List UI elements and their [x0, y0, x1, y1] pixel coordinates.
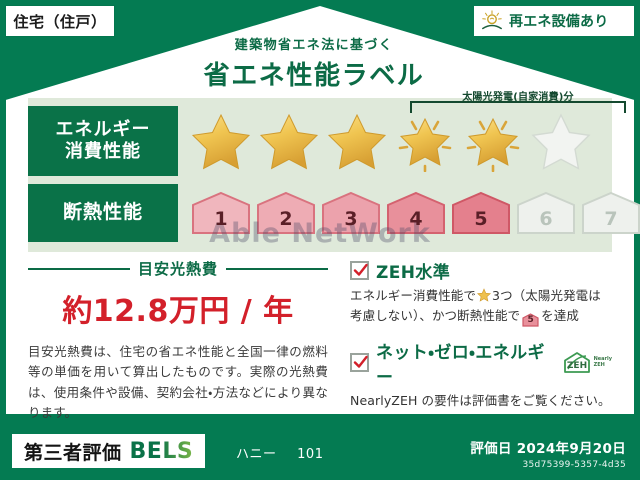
star-filled-solar-4: [392, 110, 458, 172]
star-empty-6: [528, 110, 594, 172]
category-tag: 住宅（住戸）: [6, 6, 114, 36]
zeh-desc-part1: エネルギー消費性能で: [350, 288, 476, 303]
insulation-label-text: 断熱性能: [63, 201, 143, 224]
energy-label-line1: エネルギー: [56, 119, 151, 141]
cost-heading: 目安光熱費: [28, 258, 328, 279]
star-filled-solar-5: [460, 110, 526, 172]
zeh-desc-part3: を達成: [541, 308, 579, 323]
insulation-chip-3-label: 3: [344, 208, 357, 230]
evaluation-date: 評価日 2024年9月20日: [470, 437, 626, 457]
evaluation-id: 35d75399-5357-4d35: [470, 460, 626, 470]
building-name: ハニー: [236, 447, 277, 462]
category-tag-label: 住宅（住戸）: [13, 11, 106, 32]
insulation-chip-7: 7: [580, 191, 640, 235]
insulation-chip-1: 1: [190, 191, 252, 235]
star-filled-2: [256, 110, 322, 172]
insulation-chip-5-achieved: 5: [450, 191, 512, 235]
insulation-chip-2: 2: [255, 191, 317, 235]
insulation-chip-6: 6: [515, 191, 577, 235]
zeh-standard-description: エネルギー消費性能で3つ（太陽光発電は考慮しない）、かつ断熱性能で5を達成: [350, 286, 612, 327]
evaluation-info: 評価日 2024年9月20日 35d75399-5357-4d35: [470, 437, 626, 470]
insulation-level-scale: 1 2 3 4 5: [178, 191, 640, 235]
energy-cost-column: 目安光熱費 約12.8万円 / 年 目安光熱費は、住宅の省エネ性能と全国一律の燃…: [28, 258, 328, 423]
insulation-chip-2-label: 2: [279, 208, 292, 230]
energy-performance-label: エネルギー 消費性能: [28, 106, 178, 176]
zeh-standard-header: ZEH水準: [350, 258, 612, 283]
unit-number: 101: [297, 447, 323, 462]
cost-heading-label: 目安光熱費: [138, 258, 218, 279]
energy-label-line2: 消費性能: [65, 141, 141, 163]
zeh-logo-sub2: ZEH: [594, 362, 605, 368]
energy-performance-row: エネルギー 消費性能 太陽光発電(自家消費)分: [28, 106, 594, 176]
performance-block: エネルギー 消費性能 太陽光発電(自家消費)分: [28, 98, 612, 252]
renewable-badge-label: 再エネ設備あり: [509, 11, 608, 31]
zeh-house-logo-icon: ZEH Nearly ZEH: [562, 351, 612, 375]
title-subtitle: 建築物省エネ法に基づく: [0, 34, 628, 53]
energy-star-rating: 太陽光発電(自家消費)分: [178, 110, 594, 172]
zeh-desc-star-count: 3つ（太陽光発電: [492, 288, 588, 303]
insulation-chip-6-label: 6: [539, 208, 552, 230]
energy-label-screenshot: 建築物省エネ法に基づく 省エネ性能ラベル 住宅（住戸） 再エネ設備あり: [0, 0, 640, 480]
zeh-check-icon: [350, 261, 369, 280]
building-info: ハニー 101: [236, 443, 323, 462]
net-zero-title: ネット・ゼロ・エネルギー: [376, 338, 550, 388]
net-zero-block: ネット・ゼロ・エネルギー ZEH Nearly ZEH NearlyZEH: [350, 338, 612, 411]
cost-rule-left: [28, 268, 130, 270]
title-main: 省エネ性能ラベル: [0, 55, 628, 92]
svg-text:ZEH: ZEH: [567, 361, 587, 371]
insulation-performance-label: 断熱性能: [28, 184, 178, 242]
zeh-standard-title: ZEH水準: [376, 258, 450, 283]
net-zero-header: ネット・ゼロ・エネルギー ZEH Nearly ZEH: [350, 338, 612, 388]
bels-badge: 第三者評価 BELS: [12, 434, 205, 468]
bels-en-label: BELS: [130, 439, 194, 464]
net-zero-description: NearlyZEH の要件は評価書をご覧ください。: [350, 391, 612, 411]
insulation-chip-7-label: 7: [604, 208, 617, 230]
bels-jp-label: 第三者評価: [24, 438, 122, 465]
inline-star-icon: [477, 288, 491, 302]
insulation-performance-row: 断熱性能 1 2 3 4: [28, 184, 640, 242]
solar-sun-icon: [480, 10, 504, 32]
cost-rule-right: [226, 268, 328, 270]
star-filled-3: [324, 110, 390, 172]
certification-column: ZEH水準 エネルギー消費性能で3つ（太陽光発電は考慮しない）、かつ断熱性能で5…: [350, 258, 612, 411]
insulation-chip-4: 4: [385, 191, 447, 235]
insulation-chip-4-label: 4: [409, 208, 422, 230]
star-filled-1: [188, 110, 254, 172]
inline-insulation-chip-icon: 5: [522, 313, 539, 327]
page-title: 建築物省エネ法に基づく 省エネ性能ラベル: [0, 34, 628, 92]
cost-note: 目安光熱費は、住宅の省エネ性能と全国一律の燃料等の単価を用いて算出したものです。…: [28, 342, 328, 423]
inline-chip-value: 5: [522, 313, 539, 328]
insulation-chip-3: 3: [320, 191, 382, 235]
cost-value: 約12.8万円 / 年: [28, 286, 328, 330]
renewable-energy-badge: 再エネ設備あり: [474, 6, 634, 36]
insulation-chip-1-label: 1: [214, 208, 227, 230]
net-zero-check-icon: [350, 353, 369, 372]
insulation-chip-5-label: 5: [474, 208, 487, 230]
zeh-logo-sub: Nearly ZEH: [594, 357, 612, 368]
details-area: 目安光熱費 約12.8万円 / 年 目安光熱費は、住宅の省エネ性能と全国一律の燃…: [28, 258, 612, 404]
zeh-standard-block: ZEH水準 エネルギー消費性能で3つ（太陽光発電は考慮しない）、かつ断熱性能で5…: [350, 258, 612, 327]
